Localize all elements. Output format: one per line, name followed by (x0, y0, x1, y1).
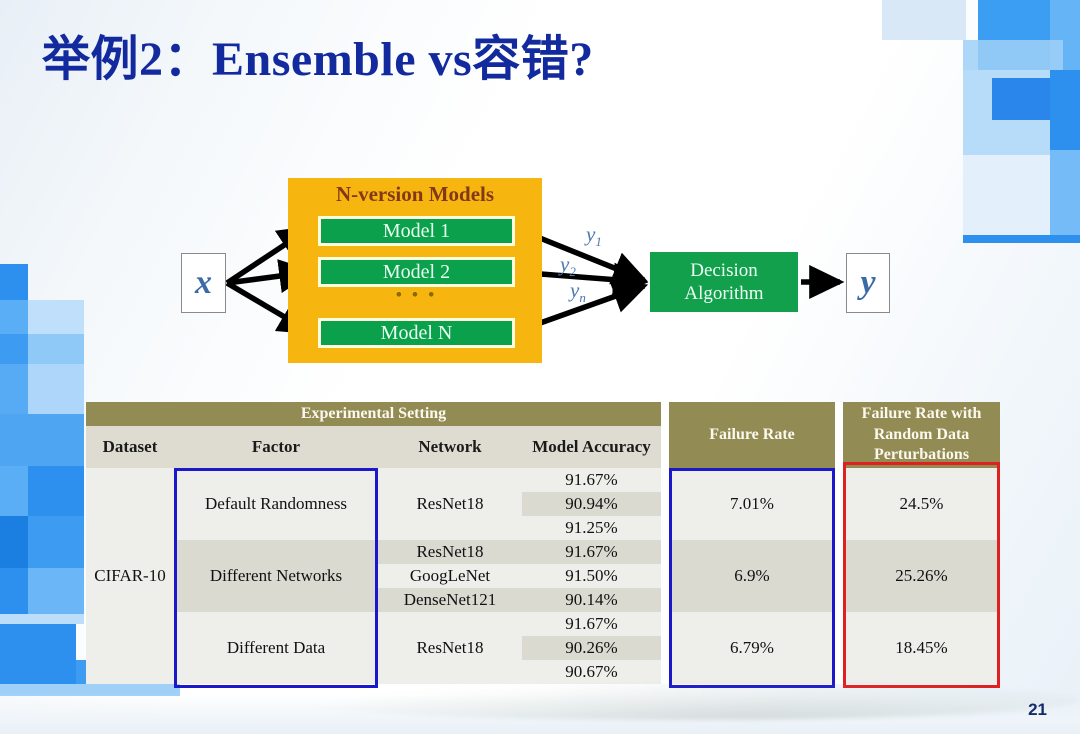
decor-block-l-8 (0, 414, 84, 466)
cell-factor-2: Different Networks (174, 540, 378, 612)
cell-failure-rate-perturbed-3: 18.45% (843, 612, 1000, 684)
spacer-cell-2 (835, 468, 843, 684)
header-dataset: Dataset (86, 426, 174, 468)
cell-accuracy-1-1: 91.67% (522, 468, 661, 492)
cell-network-2-1: ResNet18 (378, 540, 522, 564)
page-number: 21 (1028, 700, 1047, 720)
edge-label-yn-base: y (570, 278, 579, 302)
results-table: Experimental Setting Failure Rate Failur… (86, 402, 1000, 684)
cell-accuracy-1-2: 90.94% (522, 492, 661, 516)
page-title: 举例2：Ensemble vs容错? (42, 32, 594, 87)
spacer-cell-1 (661, 468, 669, 684)
edge-label-y2: y2 (560, 252, 576, 280)
cell-failure-rate-2: 6.9% (669, 540, 835, 612)
table-row: Different Networks ResNet18 91.67% 6.9% … (86, 540, 1000, 564)
header-factor: Factor (174, 426, 378, 468)
cell-accuracy-2-2: 91.50% (522, 564, 661, 588)
header-spacer-1 (661, 402, 669, 468)
edge-label-yn: yn (570, 278, 586, 306)
decor-block-tr-6 (992, 78, 1050, 120)
model-box-n[interactable]: Model N (318, 318, 515, 348)
bottom-shadow (280, 680, 1080, 720)
decision-line-2: Algorithm (684, 282, 763, 305)
edge-label-y1: y1 (586, 222, 602, 250)
table-head: Experimental Setting Failure Rate Failur… (86, 402, 1000, 468)
slide-canvas: 举例2：Ensemble vs容错? N-version Models Mode… (0, 0, 1080, 734)
cell-failure-rate-perturbed-2: 25.26% (843, 540, 1000, 612)
decor-block-tr-2 (978, 0, 1050, 72)
decor-block-l-14 (28, 568, 84, 614)
cell-network-2-3: DenseNet121 (378, 588, 522, 612)
table-head-row-1: Experimental Setting Failure Rate Failur… (86, 402, 1000, 426)
bottom-band (0, 694, 1080, 734)
edge-label-yn-sub: n (579, 290, 586, 305)
decision-algorithm-box[interactable]: Decision Algorithm (650, 252, 798, 312)
decor-block-tr-4 (963, 40, 1063, 70)
decor-block-tr-3 (1050, 0, 1080, 160)
decor-block-l-11 (0, 516, 28, 568)
cell-accuracy-3-2: 90.26% (522, 636, 661, 660)
edge-label-y1-base: y (586, 222, 595, 246)
cell-factor-3: Different Data (174, 612, 378, 684)
cell-failure-rate-1: 7.01% (669, 468, 835, 540)
cell-accuracy-3-1: 91.67% (522, 612, 661, 636)
header-failure-rate-perturbed: Failure Rate with Random Data Perturbati… (843, 402, 1000, 468)
cell-network-2-2: GoogLeNet (378, 564, 522, 588)
edge-label-y1-sub: 1 (595, 234, 602, 249)
header-failure-rate: Failure Rate (669, 402, 835, 468)
decor-block-tr-1 (882, 0, 966, 40)
decor-block-l-18 (0, 684, 180, 696)
table-row: Different Data ResNet18 91.67% 6.79% 18.… (86, 612, 1000, 636)
output-y-box: y (846, 253, 890, 313)
header-model-accuracy: Model Accuracy (522, 426, 661, 468)
cell-accuracy-2-3: 90.14% (522, 588, 661, 612)
decor-block-l-12 (28, 516, 84, 568)
ensemble-diagram: N-version Models Model 1 Model 2 • • • M… (0, 160, 1080, 390)
cell-network-3: ResNet18 (378, 612, 522, 684)
cell-accuracy-3-3: 90.67% (522, 660, 661, 684)
header-network: Network (378, 426, 522, 468)
header-experimental-setting: Experimental Setting (86, 402, 661, 426)
cell-factor-1: Default Randomness (174, 468, 378, 540)
n-version-panel-title: N-version Models (288, 182, 542, 207)
cell-accuracy-2-1: 91.67% (522, 540, 661, 564)
models-ellipsis: • • • (318, 288, 515, 302)
decor-block-tr-7 (1050, 70, 1080, 150)
decor-block-l-9 (0, 466, 28, 516)
decor-block-l-10 (28, 466, 84, 516)
results-table-container: Experimental Setting Failure Rate Failur… (86, 402, 1000, 684)
header-spacer-2 (835, 402, 843, 468)
cell-failure-rate-3: 6.79% (669, 612, 835, 684)
cell-dataset: CIFAR-10 (86, 468, 174, 684)
table-row: CIFAR-10 Default Randomness ResNet18 91.… (86, 468, 1000, 492)
input-x-box: x (181, 253, 226, 313)
cell-failure-rate-perturbed-1: 24.5% (843, 468, 1000, 540)
decor-block-tr-5 (963, 70, 1050, 155)
edge-label-y2-base: y (560, 252, 569, 276)
decor-block-l-16 (0, 624, 76, 684)
cell-network-1: ResNet18 (378, 468, 522, 540)
table-body: CIFAR-10 Default Randomness ResNet18 91.… (86, 468, 1000, 684)
decor-block-l-13 (0, 568, 28, 614)
model-box-2[interactable]: Model 2 (318, 257, 515, 287)
decor-block-l-15 (0, 614, 84, 624)
decision-line-1: Decision (690, 259, 758, 282)
model-box-1[interactable]: Model 1 (318, 216, 515, 246)
cell-accuracy-1-3: 91.25% (522, 516, 661, 540)
edge-label-y2-sub: 2 (569, 264, 576, 279)
